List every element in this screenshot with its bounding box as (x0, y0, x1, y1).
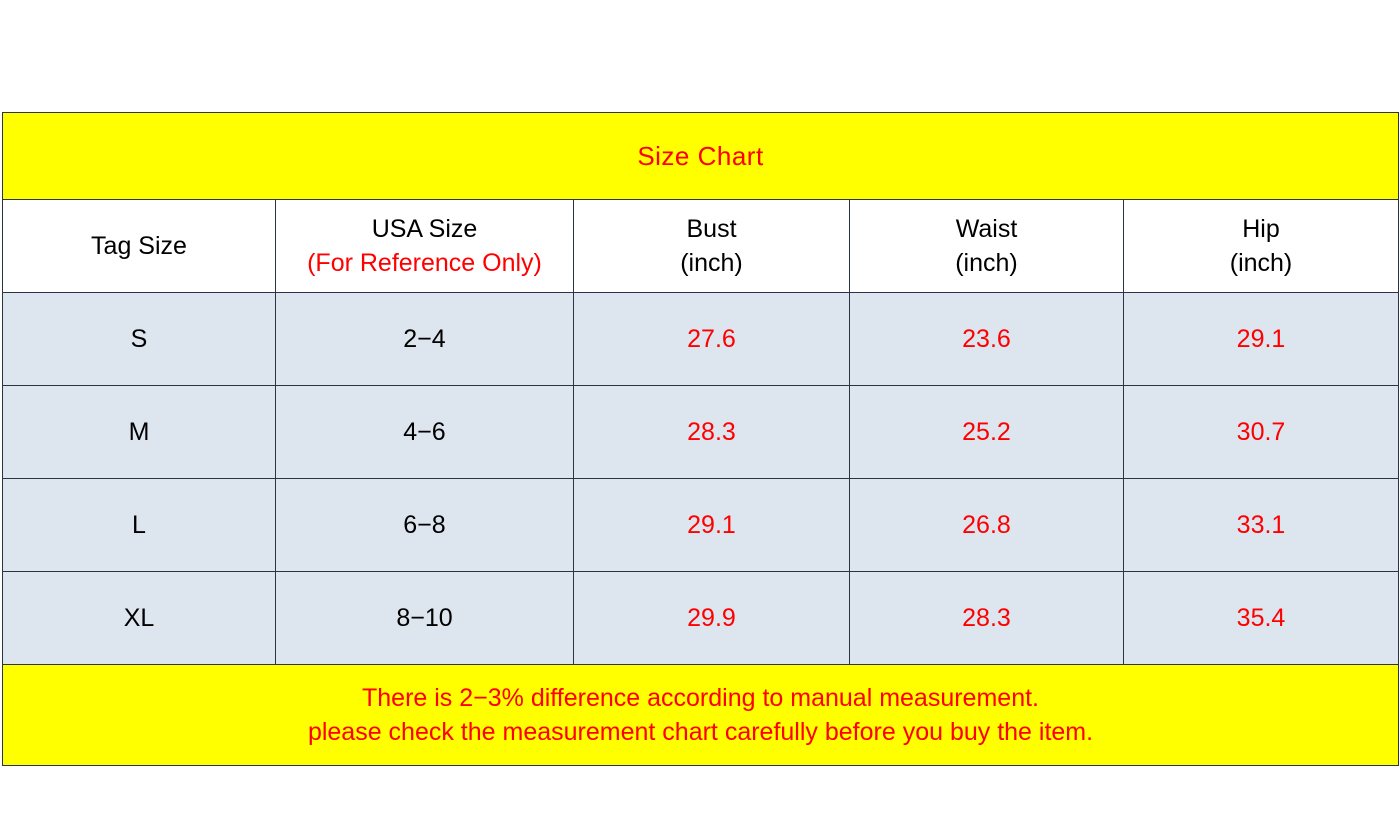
cell-waist: 23.6 (850, 293, 1124, 386)
cell-bust: 29.1 (574, 479, 850, 572)
size-chart-table: Size Chart Tag Size USA Size (For Refere… (2, 112, 1399, 766)
size-chart-container: Size Chart Tag Size USA Size (For Refere… (2, 112, 1398, 766)
measurement-disclaimer: There is 2−3% difference according to ma… (3, 665, 1399, 766)
title-row: Size Chart (3, 113, 1399, 200)
cell-usa-size: 6−8 (276, 479, 574, 572)
cell-tag-size: L (3, 479, 276, 572)
cell-waist: 28.3 (850, 572, 1124, 665)
cell-bust: 28.3 (574, 386, 850, 479)
column-header-waist-unit: (inch) (854, 246, 1119, 280)
cell-hip: 33.1 (1124, 479, 1399, 572)
cell-tag-size: M (3, 386, 276, 479)
table-row: M 4−6 28.3 25.2 30.7 (3, 386, 1399, 479)
measurement-disclaimer-line-1: There is 2−3% difference according to ma… (9, 681, 1392, 716)
page-title: Size Chart (3, 113, 1399, 200)
header-row: Tag Size USA Size (For Reference Only) B… (3, 200, 1399, 293)
cell-usa-size: 4−6 (276, 386, 574, 479)
cell-bust: 27.6 (574, 293, 850, 386)
cell-hip: 30.7 (1124, 386, 1399, 479)
column-header-usa-size-note: (For Reference Only) (280, 246, 569, 280)
cell-tag-size: XL (3, 572, 276, 665)
cell-waist: 25.2 (850, 386, 1124, 479)
column-header-hip-label: Hip (1128, 212, 1394, 246)
cell-waist: 26.8 (850, 479, 1124, 572)
column-header-waist: Waist (inch) (850, 200, 1124, 293)
table-row: S 2−4 27.6 23.6 29.1 (3, 293, 1399, 386)
column-header-usa-size-label: USA Size (280, 212, 569, 246)
cell-bust: 29.9 (574, 572, 850, 665)
cell-hip: 29.1 (1124, 293, 1399, 386)
cell-tag-size: S (3, 293, 276, 386)
column-header-waist-label: Waist (854, 212, 1119, 246)
column-header-bust: Bust (inch) (574, 200, 850, 293)
cell-usa-size: 2−4 (276, 293, 574, 386)
column-header-usa-size: USA Size (For Reference Only) (276, 200, 574, 293)
measurement-disclaimer-line-2: please check the measurement chart caref… (9, 715, 1392, 750)
table-row: L 6−8 29.1 26.8 33.1 (3, 479, 1399, 572)
column-header-bust-unit: (inch) (578, 246, 845, 280)
column-header-bust-label: Bust (578, 212, 845, 246)
note-row: There is 2−3% difference according to ma… (3, 665, 1399, 766)
cell-usa-size: 8−10 (276, 572, 574, 665)
table-row: XL 8−10 29.9 28.3 35.4 (3, 572, 1399, 665)
column-header-hip: Hip (inch) (1124, 200, 1399, 293)
cell-hip: 35.4 (1124, 572, 1399, 665)
column-header-tag-size: Tag Size (3, 200, 276, 293)
column-header-hip-unit: (inch) (1128, 246, 1394, 280)
